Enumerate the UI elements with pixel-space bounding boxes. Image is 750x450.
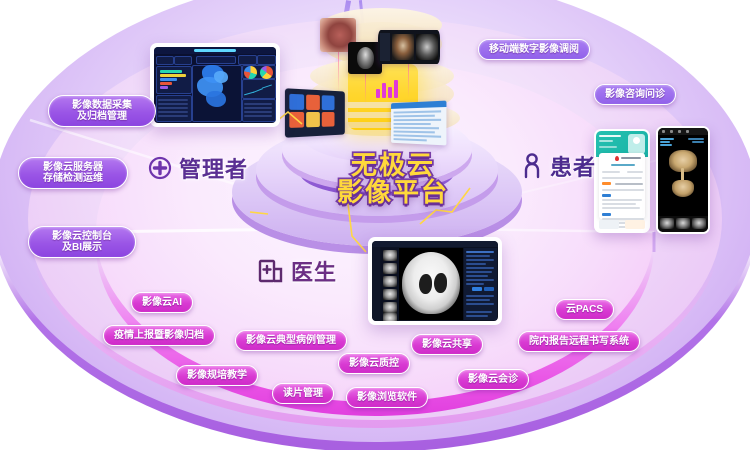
app-tiles-thumbnail — [285, 88, 345, 138]
pill-admin-3-line1: 影像云控制台 — [52, 231, 112, 242]
pill-doctor-8[interactable]: 影像云共享 — [411, 334, 483, 355]
role-marker-patient[interactable]: 患者 — [521, 150, 596, 182]
pill-doctor-5[interactable]: 读片管理 — [272, 383, 334, 404]
pill-patient-2[interactable]: 影像咨询问诊 — [594, 84, 676, 105]
skeleton-3d-render — [669, 150, 697, 198]
pill-patient-1[interactable]: 移动端数字影像调阅 — [478, 39, 590, 60]
role-marker-doctor[interactable]: 医生 — [258, 255, 337, 287]
role-label-patient: 患者 — [550, 150, 596, 182]
infographic-canvas: 管理者 患者 医生 无极云 影像平台 影像数据采集 及归档管理 影像云服务器 存… — [0, 0, 750, 450]
doctor-ct-workstation-screen — [368, 237, 502, 325]
pill-doctor-2[interactable]: 疫情上报暨影像归档 — [103, 325, 215, 346]
pill-admin-1[interactable]: 影像数据采集 及归档管理 — [48, 95, 156, 127]
bar-chart-icon — [376, 78, 400, 98]
circled-cross-icon — [148, 156, 172, 180]
title-line-1: 无极云 — [318, 152, 468, 179]
admin-dashboard-screen — [150, 43, 280, 127]
patient-3d-imaging-phone — [656, 126, 710, 234]
pill-doctor-1[interactable]: 影像云AI — [131, 292, 193, 313]
pill-doctor-9[interactable]: 影像云质控 — [338, 353, 410, 374]
role-label-admin: 管理者 — [179, 152, 248, 184]
medical-record-icon — [258, 258, 284, 284]
ultrasound-thumbnail — [348, 42, 382, 74]
pill-admin-3[interactable]: 影像云控制台 及BI展示 — [28, 226, 136, 258]
pill-doctor-4[interactable]: 影像规培教学 — [176, 365, 258, 386]
pill-admin-1-line2: 及归档管理 — [77, 111, 127, 122]
worklist-thumbnail — [391, 101, 446, 146]
role-marker-admin[interactable]: 管理者 — [148, 152, 248, 184]
role-label-doctor: 医生 — [291, 255, 337, 287]
person-icon — [521, 153, 543, 179]
pill-doctor-7[interactable]: 影像云会诊 — [457, 369, 529, 390]
pill-doctor-6[interactable]: 影像浏览软件 — [346, 387, 428, 408]
pill-doctor-11[interactable]: 院内报告远程书写系统 — [518, 331, 640, 352]
central-tower — [300, 8, 460, 158]
pill-admin-2-line1: 影像云服务器 — [43, 162, 103, 173]
patient-report-phone — [594, 129, 650, 233]
pill-admin-3-line2: 及BI展示 — [62, 242, 102, 253]
pill-doctor-10[interactable]: 云PACS — [555, 299, 614, 320]
pacs-viewer-thumbnail — [378, 30, 440, 64]
pill-admin-2-line2: 存储检测运维 — [43, 173, 103, 184]
title-line-2: 影像平台 — [318, 179, 468, 206]
pill-doctor-3[interactable]: 影像云典型病例管理 — [235, 330, 347, 351]
page-title: 无极云 影像平台 — [318, 152, 468, 206]
ct-lung-image — [402, 252, 460, 314]
pill-admin-2[interactable]: 影像云服务器 存储检测运维 — [18, 157, 128, 189]
pill-admin-1-line1: 影像数据采集 — [72, 100, 132, 111]
